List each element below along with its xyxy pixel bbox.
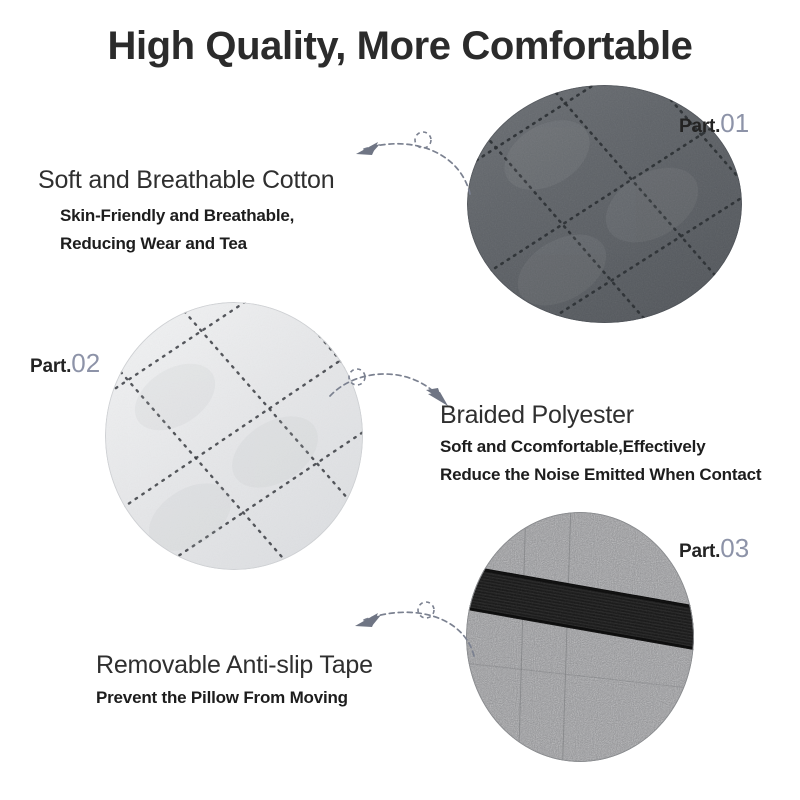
- feature-2-title: Braided Polyester: [440, 400, 634, 430]
- feature-1-description-line-1: Skin-Friendly and Breathable,: [60, 202, 294, 230]
- feature-2-description-line-2: Reduce the Noise Emitted When Contact: [440, 461, 761, 489]
- part-badge-03-word: Part.: [679, 541, 720, 562]
- part-badge-03-number: 03: [720, 533, 749, 563]
- feature-1-description-line-2: Reducing Wear and Tea: [60, 230, 294, 258]
- infographic-canvas: High Quality, More Comfortable: [0, 0, 800, 800]
- feature-3-title: Removable Anti-slip Tape: [96, 650, 373, 680]
- feature-3-description: Prevent the Pillow From Moving: [96, 684, 348, 712]
- swatch-anti-slip-tape: [466, 512, 694, 762]
- feature-3-description-line-1: Prevent the Pillow From Moving: [96, 684, 348, 712]
- part-badge-01-number: 01: [720, 108, 749, 138]
- part-badge-02-word: Part.: [30, 356, 71, 377]
- feature-2-description: Soft and Ccomfortable,Effectively Reduce…: [440, 433, 761, 489]
- feature-2-description-line-1: Soft and Ccomfortable,Effectively: [440, 433, 761, 461]
- part-badge-02: Part.02: [30, 350, 100, 376]
- part-badge-01: Part.01: [679, 110, 749, 136]
- swatch-light-quilted-polyester: [105, 302, 363, 570]
- feature-1-title: Soft and Breathable Cotton: [38, 165, 334, 195]
- part-badge-02-number: 02: [71, 348, 100, 378]
- page-title: High Quality, More Comfortable: [0, 22, 800, 70]
- part-badge-01-word: Part.: [679, 116, 720, 137]
- part-badge-03: Part.03: [679, 535, 749, 561]
- arrow-to-feature-1: [338, 118, 478, 202]
- feature-1-description: Skin-Friendly and Breathable, Reducing W…: [60, 202, 294, 258]
